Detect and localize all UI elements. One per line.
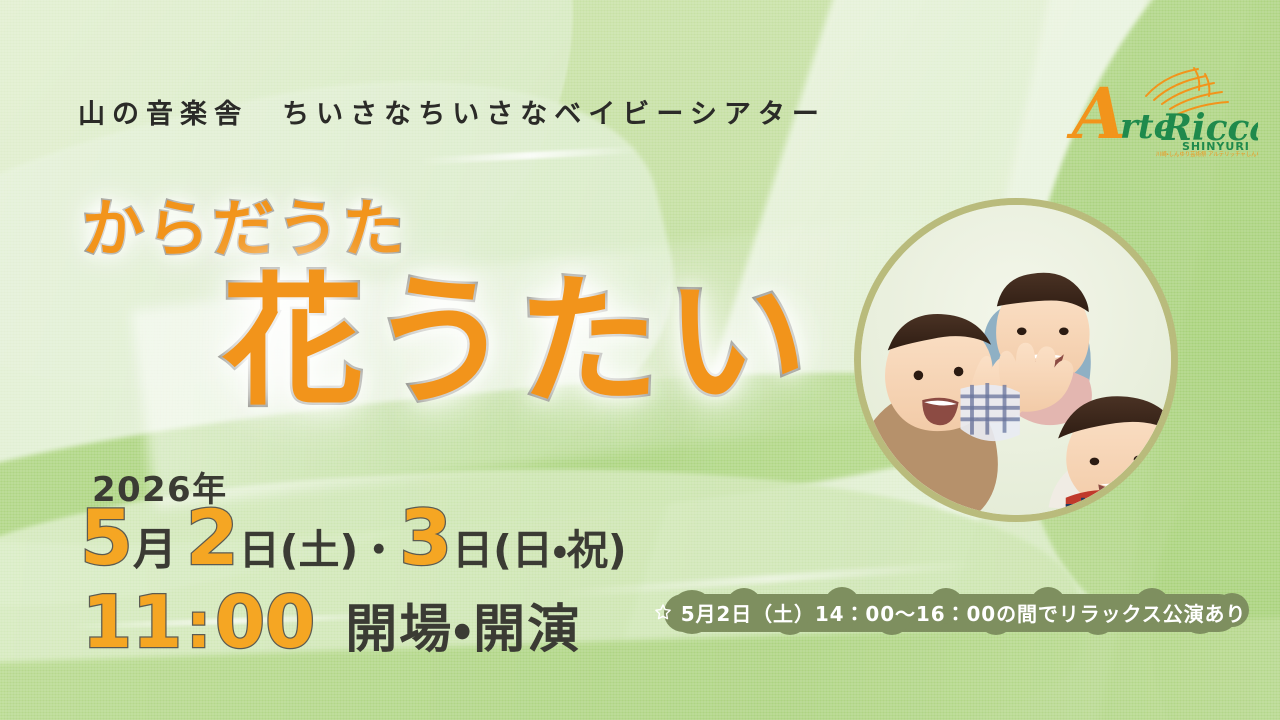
star-icon [654, 603, 672, 621]
event-date-row: 5 月 2 日 (土) ・ 3 日 (日・祝) [80, 500, 627, 576]
cushion-check [961, 383, 1020, 441]
logo-caption: 川崎・しんゆり芸術祭 アルテリッチャしんゆり [1156, 150, 1258, 157]
date-day2-weekday: (日・祝) [493, 530, 626, 571]
date-day1-weekday: (土) [280, 530, 358, 571]
date-separator: ・ [358, 530, 399, 571]
time-open-label: 開場・開演 [345, 604, 581, 656]
main-title-hanautai: 花うたい [222, 272, 813, 414]
date-month-number: 5 [80, 500, 133, 576]
photo-ring-border [854, 198, 1178, 522]
banner-label: 5月2日（土）14：00〜16：00の間でリラックス公演あり [681, 598, 1247, 627]
time-minute: 00 [215, 586, 315, 658]
arte-ricca-logo: A rte Ricca SHINYURI 川崎・しんゆり芸術祭 アルテリッチャし… [1058, 52, 1258, 157]
date-day1-number: 2 [186, 500, 239, 576]
subtitle-karadauta: からだうた [82, 178, 408, 268]
plaid-bib [1066, 490, 1158, 515]
logo-initial: A [1066, 72, 1126, 155]
photo-image [861, 205, 1171, 515]
series-title: 山の音楽舎 ちいさなちいさなベイビーシアター [78, 92, 826, 131]
date-day2-number: 3 [399, 500, 452, 576]
baby-photo [854, 198, 1178, 522]
event-time-row: 11 : 00 開場・開演 [82, 586, 581, 658]
time-hour: 11 [82, 586, 182, 658]
time-colon: : [186, 595, 211, 657]
poster-canvas: 山の音楽舎 ちいさなちいさなベイビーシアター A rte Ricca SHINY… [0, 0, 1280, 720]
relax-performance-banner: 5月2日（土）14：00〜16：00の間でリラックス公演あり [640, 584, 1260, 640]
banner-text-row: 5月2日（土）14：00〜16：00の間でリラックス公演あり [640, 584, 1260, 640]
date-day2-label: 日 [452, 530, 493, 571]
date-day1-label: 日 [239, 530, 280, 571]
date-month-label: 月 [133, 528, 177, 572]
